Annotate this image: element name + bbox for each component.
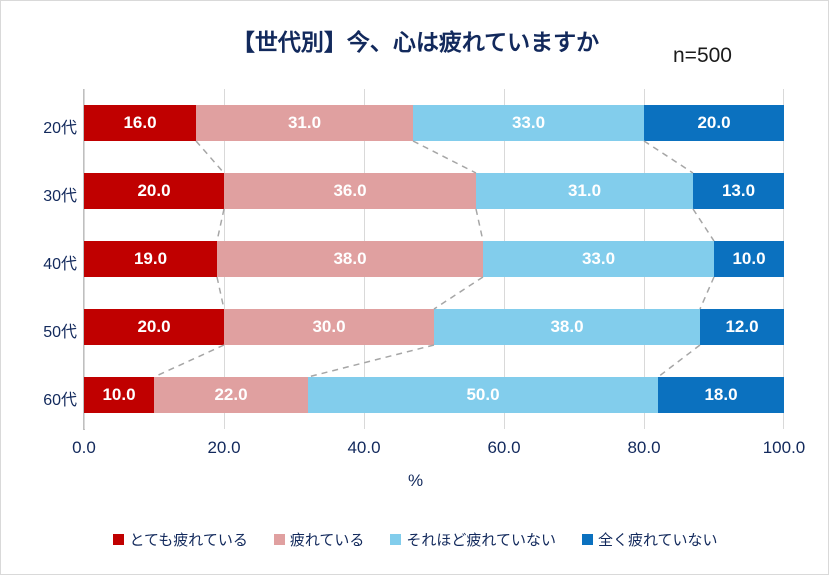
bar-row: 19.038.033.010.0 [84,241,784,277]
bar-segment[interactable]: 22.0 [154,377,308,413]
bar-segment[interactable]: 31.0 [196,105,413,141]
bar-segment[interactable]: 16.0 [84,105,196,141]
sample-size-annotation: n=500 [673,44,732,68]
category-label: 20代 [17,114,77,138]
chart-container: 【世代別】今、心は疲れていますか n=500 16.031.033.020.02… [0,0,829,575]
bar-segment[interactable]: 50.0 [308,377,658,413]
bar-segment[interactable]: 20.0 [644,105,784,141]
legend-item[interactable]: 疲れている [274,529,365,550]
legend-label: 疲れている [290,529,365,550]
x-tick-label: 0.0 [49,438,119,458]
bar-segment[interactable]: 10.0 [84,377,154,413]
bar-row: 20.030.038.012.0 [84,309,784,345]
plot-area: 16.031.033.020.020.036.031.013.019.038.0… [84,89,784,429]
legend-swatch-icon [274,534,285,545]
legend-swatch-icon [390,534,401,545]
bar-segment[interactable]: 19.0 [84,241,217,277]
legend-label: それほど疲れていない [406,529,556,550]
x-tick-label: 80.0 [609,438,679,458]
legend-item[interactable]: とても疲れている [113,529,247,550]
bar-segment[interactable]: 36.0 [224,173,476,209]
x-tick-label: 40.0 [329,438,399,458]
bar-segment[interactable]: 31.0 [476,173,693,209]
category-label: 40代 [17,250,77,274]
bar-segment[interactable]: 38.0 [434,309,700,345]
legend-label: 全く疲れていない [598,529,718,550]
bar-segment[interactable]: 38.0 [217,241,483,277]
legend-item[interactable]: 全く疲れていない [582,529,718,550]
chart-legend: とても疲れている疲れているそれほど疲れていない全く疲れていない [1,529,829,550]
bar-segment[interactable]: 33.0 [483,241,714,277]
legend-label: とても疲れている [129,529,247,550]
bar-row: 10.022.050.018.0 [84,377,784,413]
category-label: 60代 [17,386,77,410]
category-label: 30代 [17,182,77,206]
bar-segment[interactable]: 30.0 [224,309,434,345]
bar-segment[interactable]: 20.0 [84,309,224,345]
bar-segment[interactable]: 12.0 [700,309,784,345]
bar-segment[interactable]: 10.0 [714,241,784,277]
x-tick-label: 100.0 [749,438,819,458]
bar-segment[interactable]: 33.0 [413,105,644,141]
legend-swatch-icon [582,534,593,545]
legend-swatch-icon [113,534,124,545]
bar-segment[interactable]: 13.0 [693,173,784,209]
x-tick-label: 20.0 [189,438,259,458]
bar-segment[interactable]: 20.0 [84,173,224,209]
x-axis-title: % [1,471,829,491]
legend-item[interactable]: それほど疲れていない [390,529,556,550]
bar-segment[interactable]: 18.0 [658,377,784,413]
bar-row: 16.031.033.020.0 [84,105,784,141]
category-label: 50代 [17,318,77,342]
bar-row: 20.036.031.013.0 [84,173,784,209]
x-tick-label: 60.0 [469,438,539,458]
